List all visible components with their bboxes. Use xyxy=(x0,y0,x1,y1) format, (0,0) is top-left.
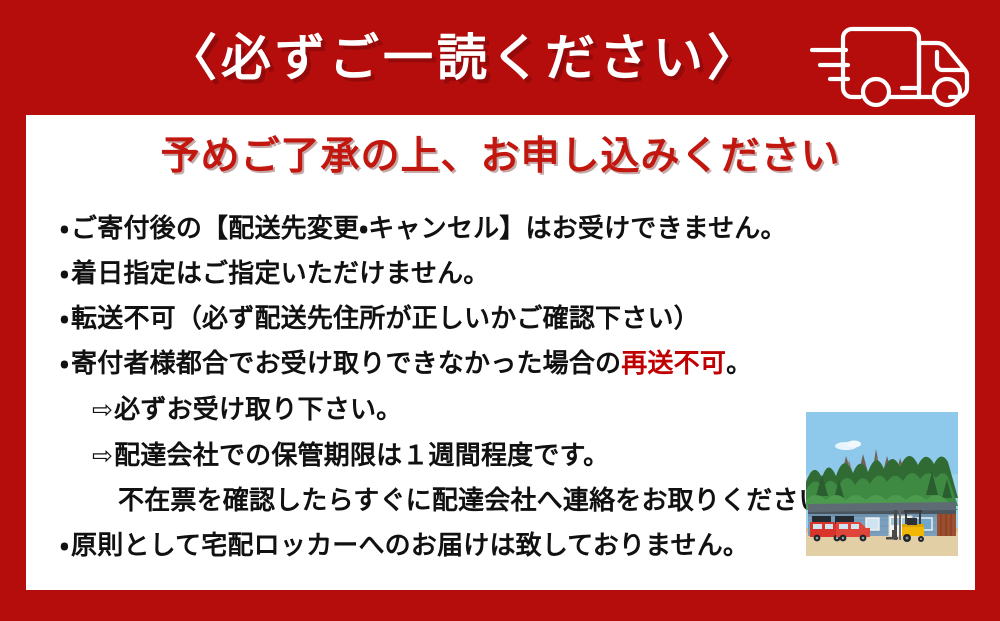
notice-text: 必ずお受け取り下さい。 xyxy=(114,395,402,425)
notice-item: ・転送不可（必ず配送先住所が正しいかご確認下さい） xyxy=(60,297,955,342)
bullet-marker-icon: ・ xyxy=(60,304,69,334)
notice-text: 不在票を確認したらすぐに配達会社へ連絡をお取りください。 xyxy=(118,486,851,516)
notice-text: ご寄付後の【配送先変更・キャンセル】はお受けできません。 xyxy=(71,214,787,244)
notice-text: 着日指定はご指定いただけません。 xyxy=(71,259,489,289)
notice-text: 原則として宅配ロッカーへのお届けは致しておりません。 xyxy=(71,531,749,561)
notice-text-emphasis: 再送不可 xyxy=(621,349,726,379)
notice-text: 配達会社での保管期限は１週間程度です。 xyxy=(114,441,609,471)
warehouse-photo xyxy=(806,412,958,556)
bullet-marker-icon: ・ xyxy=(60,214,69,244)
arrow-marker-icon: ⇨ xyxy=(92,395,113,424)
arrow-marker-icon: ⇨ xyxy=(92,441,113,470)
bullet-marker-icon: ・ xyxy=(60,259,69,289)
notice-card: 予めご了承の上、お申し込みください ・ご寄付後の【配送先変更・キャンセル】はお受… xyxy=(26,115,975,590)
card-title: 予めご了承の上、お申し込みください xyxy=(26,137,975,176)
notice-text: 。 xyxy=(726,349,752,379)
delivery-truck-icon xyxy=(810,16,978,108)
notice-text: 転送不可（必ず配送先住所が正しいかご確認下さい） xyxy=(71,304,700,334)
notice-item: ・着日指定はご指定いただけません。 xyxy=(60,252,955,297)
notice-item: ・ご寄付後の【配送先変更・キャンセル】はお受けできません。 xyxy=(60,207,955,252)
poster-root: 〈必ずご一読ください〉 予めご了承の上、お申し込みください ・ご寄付後の【配送先… xyxy=(0,0,1000,621)
banner-title: 〈必ずご一読ください〉 xyxy=(167,33,761,83)
notice-text: 寄付者様都合でお受け取りできなかった場合の xyxy=(71,349,621,379)
bullet-marker-icon: ・ xyxy=(60,349,69,379)
notice-item: ・寄付者様都合でお受け取りできなかった場合の再送不可。 xyxy=(60,342,955,387)
bullet-marker-icon: ・ xyxy=(60,531,69,561)
